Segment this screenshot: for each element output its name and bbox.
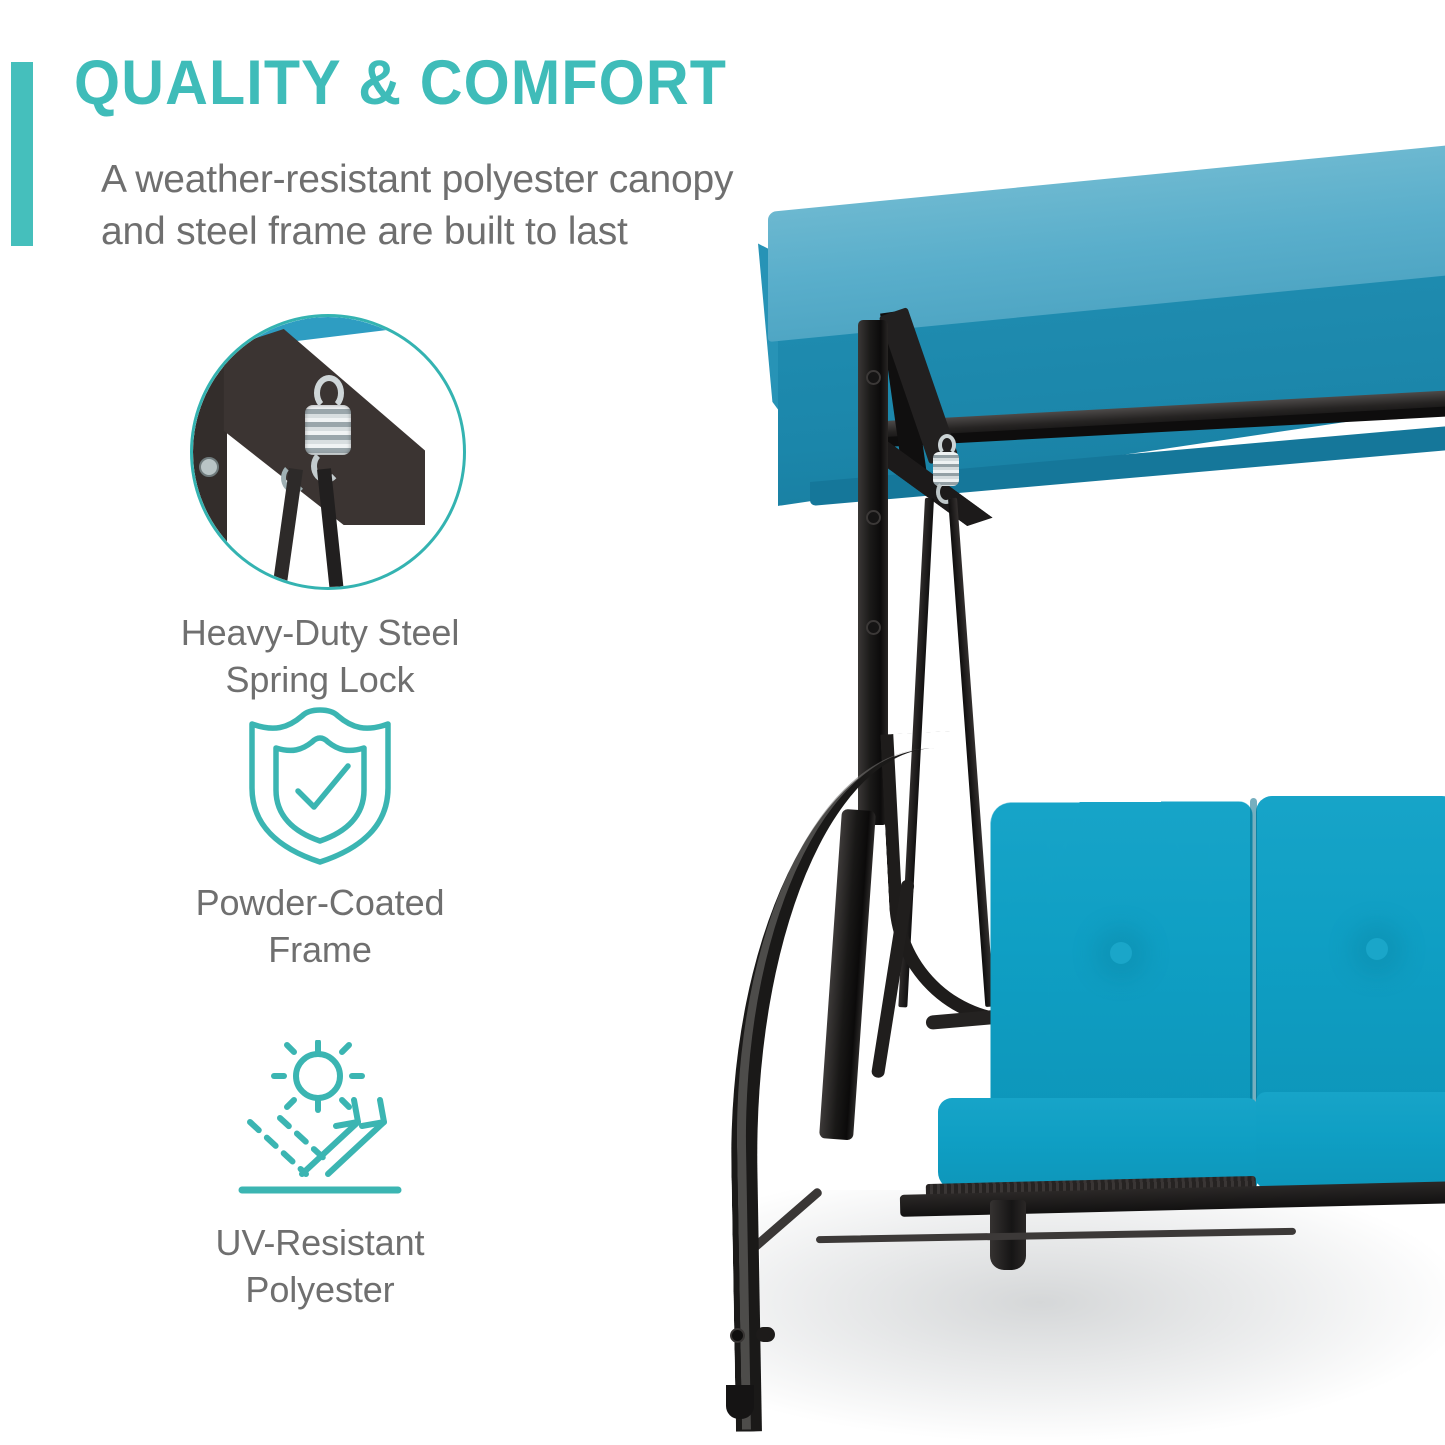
cushion-tuft-button <box>1366 938 1388 960</box>
feature-caption-powder-coated-frame: Powder-Coated Frame <box>0 880 640 974</box>
feature-caption-line-2: Polyester <box>0 1267 640 1314</box>
leg-nub <box>756 1327 775 1342</box>
page-title: QUALITY & COMFORT <box>74 50 920 116</box>
marketing-image-canvas: QUALITY & COMFORT A weather-resistant po… <box>0 0 1445 1445</box>
feature-caption-line-1: UV-Resistant <box>0 1220 640 1267</box>
feature-item-uv-resistant: UV-Resistant Polyester <box>0 1040 640 1380</box>
leg-foot-cap <box>726 1385 754 1419</box>
shield-check-icon <box>242 706 398 866</box>
post-bolt <box>866 620 881 635</box>
cushion-tuft-button <box>1110 942 1132 964</box>
feature-caption-line-1: Powder-Coated <box>0 880 640 927</box>
feature-item-powder-coated-frame: Powder-Coated Frame <box>0 700 640 1040</box>
strap-left-detail <box>271 468 303 587</box>
feature-item-spring-lock: Heavy-Duty Steel Spring Lock <box>0 300 640 700</box>
back-cushion-right <box>1256 796 1445 1116</box>
screw-detail <box>199 457 219 477</box>
feature-caption-line-2: Spring Lock <box>0 657 640 704</box>
feature-caption-spring-lock: Heavy-Duty Steel Spring Lock <box>0 610 640 704</box>
feature-caption-line-1: Heavy-Duty Steel <box>0 610 640 657</box>
leg-bolt <box>730 1328 745 1343</box>
spring-lock-photo <box>193 317 463 587</box>
steel-spring-detail <box>305 405 351 455</box>
post-bolt <box>866 370 881 385</box>
accent-bar <box>11 62 33 246</box>
post-bolt <box>866 510 881 525</box>
feature-caption-uv-resistant: UV-Resistant Polyester <box>0 1220 640 1314</box>
spring-lock-photo-inset <box>190 314 466 590</box>
product-photo-canopy-porch-swing <box>690 190 1445 1445</box>
seat-cushion-right <box>1256 1092 1445 1188</box>
feature-list: Heavy-Duty Steel Spring Lock Powder-Coat… <box>0 300 640 1380</box>
feature-caption-line-2: Frame <box>0 927 640 974</box>
uv-reflect-icon <box>232 1040 408 1206</box>
frame-post-detail <box>193 335 227 545</box>
